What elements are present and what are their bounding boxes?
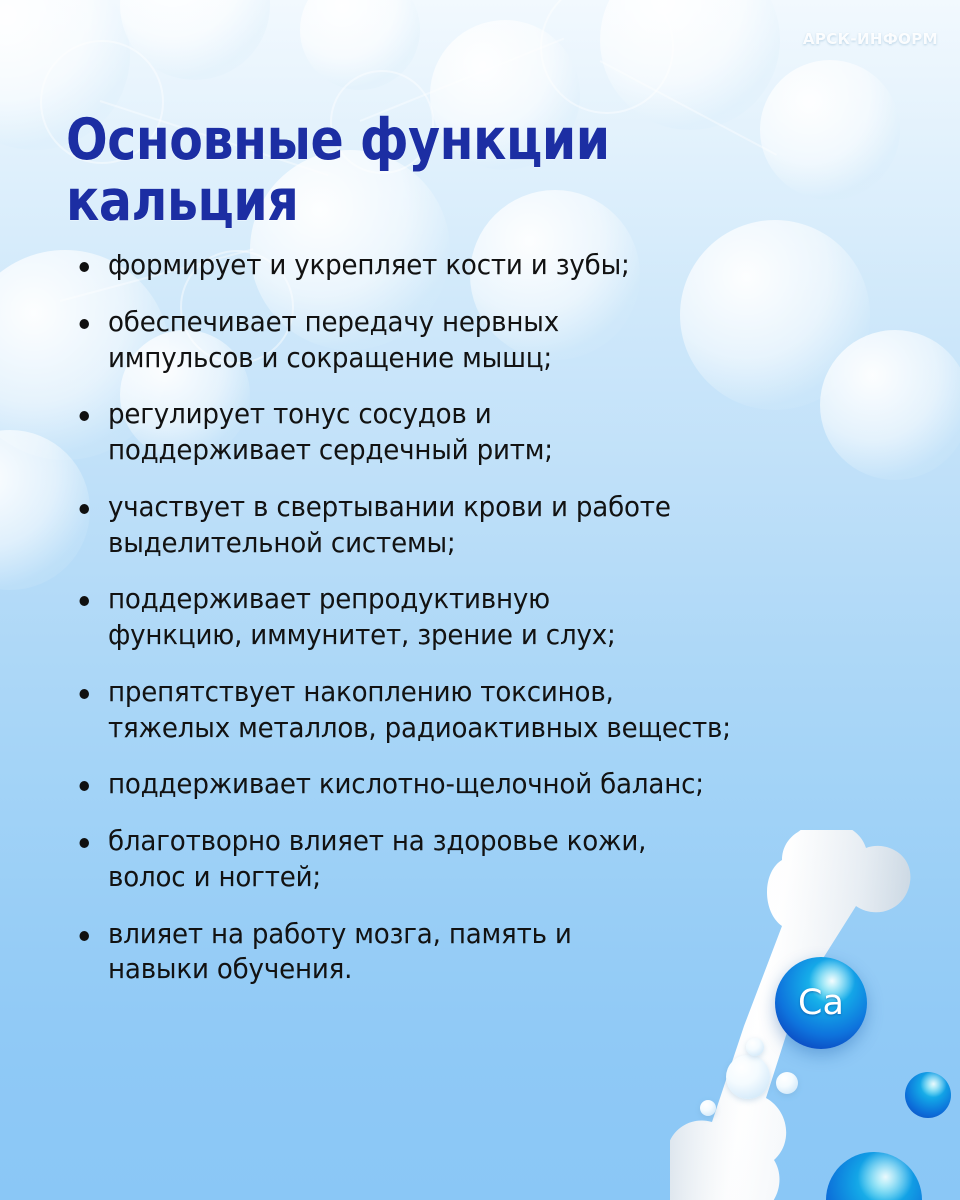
molecule-decoration (760, 60, 900, 200)
small-sphere-decoration (905, 1072, 951, 1118)
page-title-line-1: Основные функции (66, 110, 634, 171)
list-item: формирует и укрепляет кости и зубы; (70, 248, 859, 284)
page-title: Основные функции кальция (66, 110, 634, 232)
list-item-line: поддерживает кислотно-щелочной баланс; (108, 767, 859, 803)
bubble-decoration (726, 1055, 770, 1099)
list-item-line: волос и ногтей; (108, 860, 859, 896)
poster-canvas: АРСК-ИНФОРМ Основные функции кальция фор… (0, 0, 960, 1200)
molecule-ring-decoration (540, 0, 674, 114)
list-item-line: функцию, иммунитет, зрение и слух; (108, 618, 859, 654)
list-item-line: обеспечивает передачу нервных (108, 305, 859, 341)
bubble-decoration (746, 1038, 764, 1056)
watermark-label: АРСК-ИНФОРМ (803, 30, 938, 48)
list-item: благотворно влияет на здоровье кожи, вол… (70, 824, 859, 896)
list-item-line: формирует и укрепляет кости и зубы; (108, 248, 859, 284)
list-item-line: регулирует тонус сосудов и (108, 397, 859, 433)
bubble-decoration (700, 1100, 716, 1116)
list-item-line: поддерживает сердечный ритм; (108, 433, 859, 469)
list-item: обеспечивает передачу нервных импульсов … (70, 305, 859, 377)
list-item-line: навыки обучения. (108, 952, 859, 988)
list-item-line: участвует в свертывании крови и работе (108, 490, 859, 526)
list-item: поддерживает репродуктивную функцию, имм… (70, 582, 859, 654)
list-item: участвует в свертывании крови и работе в… (70, 490, 859, 562)
list-item-line: влияет на работу мозга, память и (108, 917, 859, 953)
list-item-line: тяжелых металлов, радиоактивных веществ; (108, 711, 859, 747)
molecule-decoration (300, 0, 420, 90)
list-item-line: импульсов и сокращение мышц; (108, 341, 859, 377)
list-item: препятствует накоплению токсинов, тяжелы… (70, 675, 859, 747)
page-title-line-2: кальция (66, 171, 634, 232)
calcium-functions-list: формирует и укрепляет кости и зубы; обес… (70, 248, 900, 1009)
list-item: влияет на работу мозга, память и навыки … (70, 917, 859, 989)
list-item-line: препятствует накоплению токсинов, (108, 675, 859, 711)
small-sphere-decoration (826, 1152, 922, 1200)
bubble-decoration (776, 1072, 798, 1094)
list-item: поддерживает кислотно-щелочной баланс; (70, 767, 859, 803)
list-item: регулирует тонус сосудов и поддерживает … (70, 397, 859, 469)
molecule-decoration (120, 0, 270, 80)
list-item-line: выделительной системы; (108, 526, 859, 562)
list-item-line: благотворно влияет на здоровье кожи, (108, 824, 859, 860)
list-item-line: поддерживает репродуктивную (108, 582, 859, 618)
